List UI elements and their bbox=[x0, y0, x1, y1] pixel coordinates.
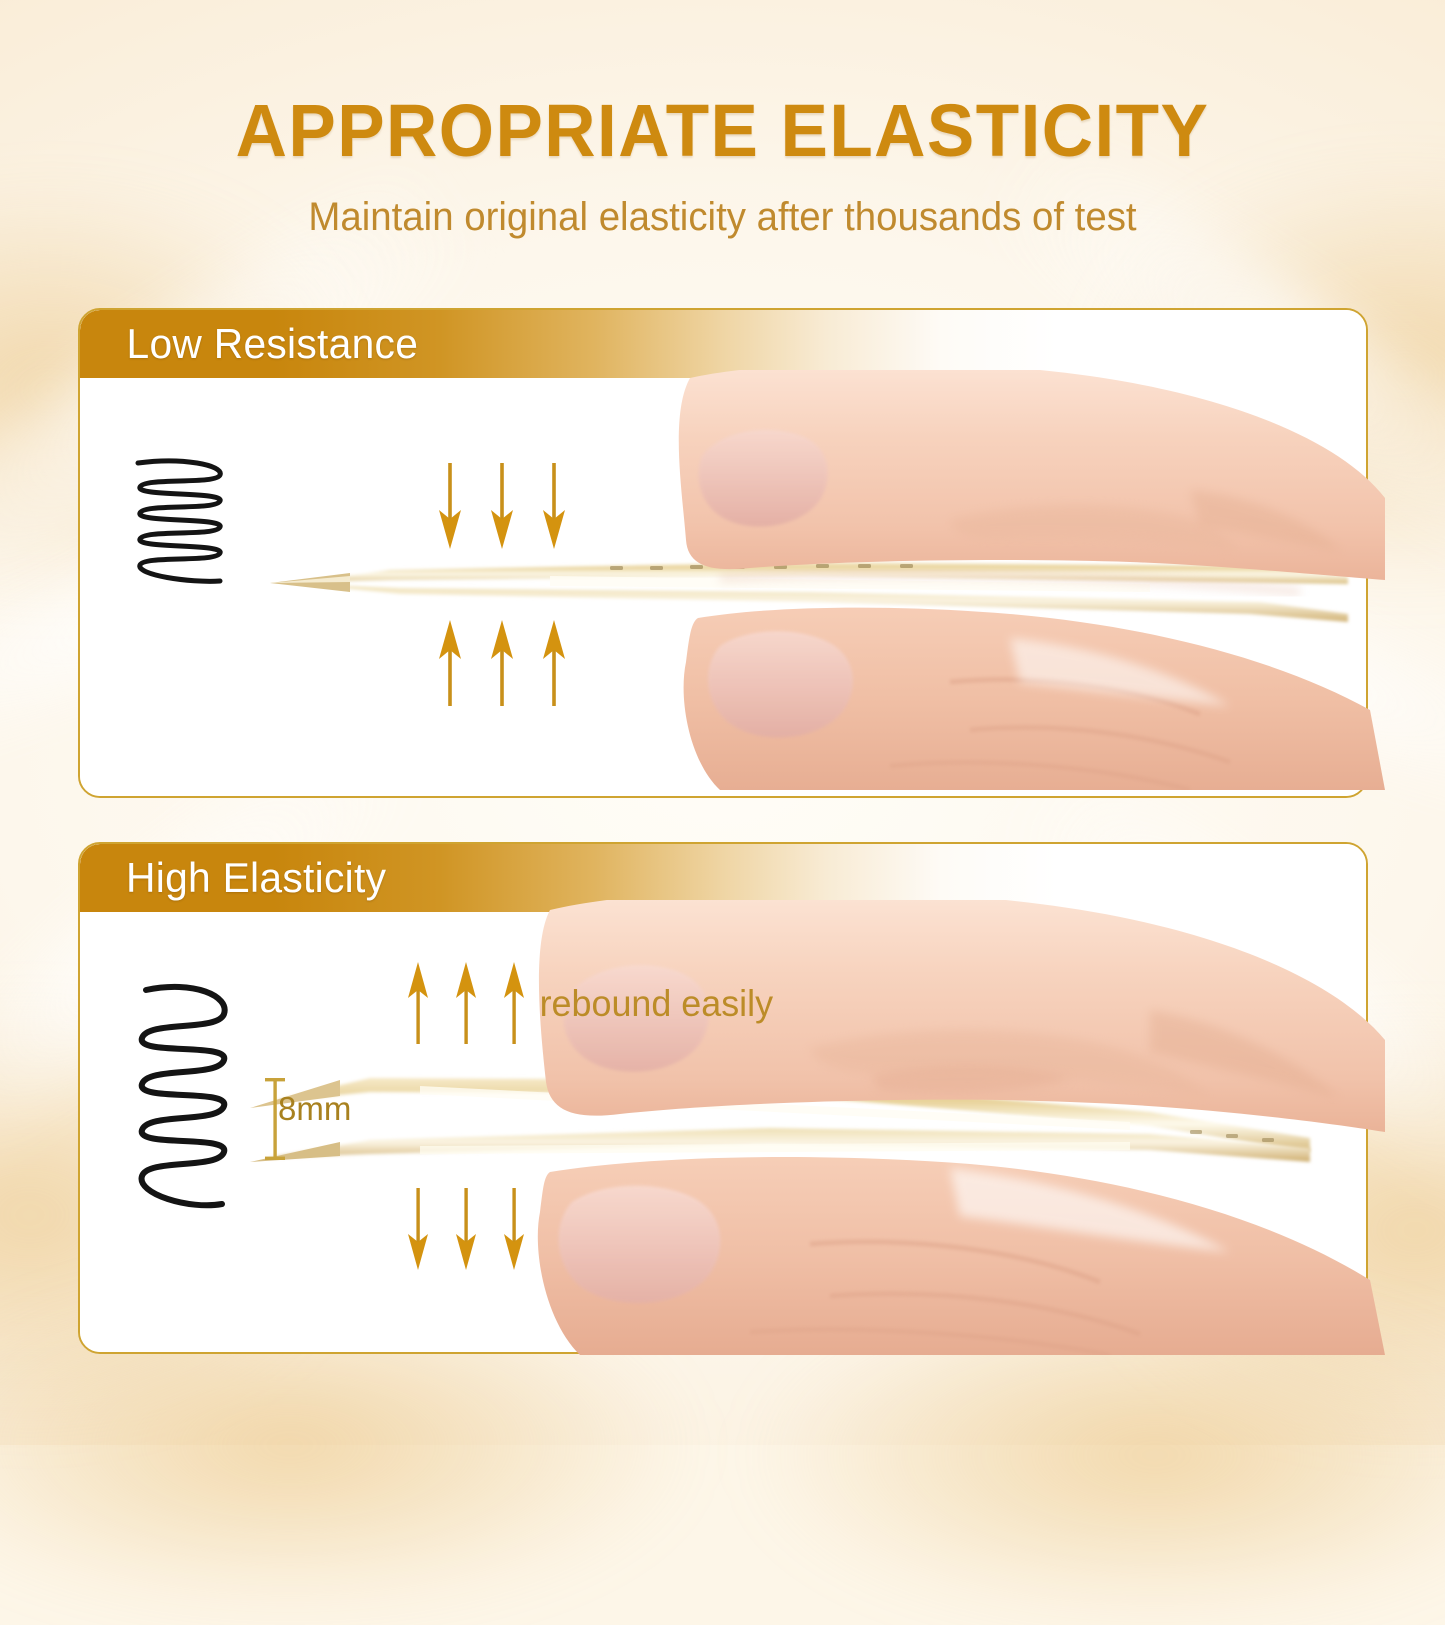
arrow-down-icon bbox=[455, 1188, 477, 1270]
arrow-down-icon bbox=[542, 463, 566, 549]
header-block: APPROPRIATE ELASTICITY Maintain original… bbox=[0, 88, 1445, 240]
panel-low-resistance-header: Low Resistance bbox=[80, 310, 1366, 378]
page-subtitle: Maintain original elasticity after thous… bbox=[29, 195, 1416, 240]
arrow-down-icon bbox=[503, 1188, 525, 1270]
arrow-up-icon bbox=[407, 962, 429, 1044]
gap-dimension-label: 8mm bbox=[278, 1090, 351, 1128]
arrow-group-high-down bbox=[407, 1188, 525, 1270]
arrow-down-icon bbox=[438, 463, 462, 549]
arrow-group-low-up bbox=[438, 620, 566, 706]
extended-spring-icon bbox=[118, 980, 248, 1215]
compressed-spring-icon bbox=[120, 455, 240, 590]
arrow-group-low-down bbox=[438, 463, 566, 549]
photo-hand-closed-tweezers bbox=[250, 370, 1390, 790]
arrow-down-icon bbox=[407, 1188, 429, 1270]
arrow-up-icon bbox=[542, 620, 566, 706]
rebound-easily-label: rebound easily bbox=[540, 983, 773, 1025]
arrow-group-high-up bbox=[407, 962, 525, 1044]
arrow-down-icon bbox=[490, 463, 514, 549]
hand-graphic bbox=[538, 900, 1385, 1355]
panel-low-resistance-label: Low Resistance bbox=[127, 320, 419, 368]
arrow-up-icon bbox=[490, 620, 514, 706]
page-title: APPROPRIATE ELASTICITY bbox=[29, 88, 1416, 173]
arrow-up-icon bbox=[438, 620, 462, 706]
arrow-up-icon bbox=[455, 962, 477, 1044]
arrow-up-icon bbox=[503, 962, 525, 1044]
panel-high-elasticity-label: High Elasticity bbox=[126, 854, 386, 902]
